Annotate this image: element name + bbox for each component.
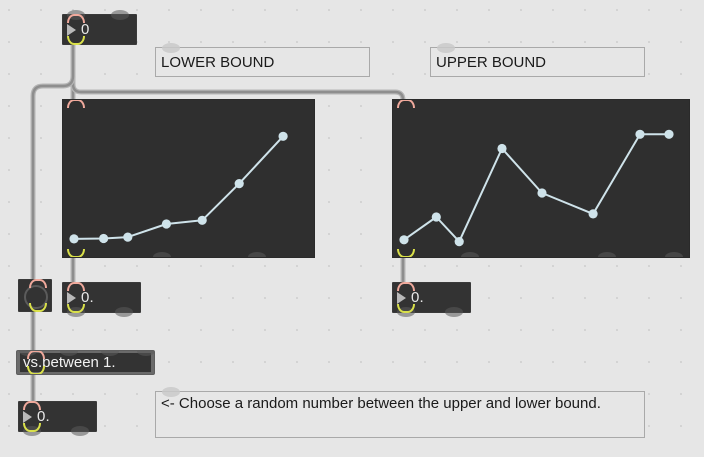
comment-inlet-shadow-3 xyxy=(162,387,180,397)
lower-bound-plot xyxy=(63,100,315,258)
numbox-blob-2 xyxy=(115,307,133,317)
function-point[interactable] xyxy=(455,237,464,246)
upper-output-value: 0. xyxy=(411,290,424,305)
function-point[interactable] xyxy=(432,212,441,221)
upper-bound-label-text: UPPER BOUND xyxy=(436,53,546,72)
comment-inlet-shadow xyxy=(162,43,180,53)
patcher-canvas[interactable]: 0 LOWER BOUND UPPER BOUND xyxy=(0,0,704,457)
lower-bound-label-text: LOWER BOUND xyxy=(161,53,274,72)
function-point[interactable] xyxy=(123,233,132,242)
function-point[interactable] xyxy=(635,130,644,139)
explanation-comment: <- Choose a random number between the up… xyxy=(155,391,645,438)
function-point[interactable] xyxy=(664,130,673,139)
bang-button[interactable] xyxy=(18,279,52,312)
result-number-box[interactable]: 0. xyxy=(18,401,97,432)
source-number-box[interactable]: 0 xyxy=(62,14,137,45)
source-number-value: 0 xyxy=(81,22,90,37)
upper-bound-function[interactable] xyxy=(392,99,690,258)
upper-output-number-box[interactable]: 0. xyxy=(392,282,471,313)
inlet-shadow xyxy=(67,10,85,20)
number-box-triangle-icon xyxy=(397,292,406,304)
function-point[interactable] xyxy=(279,132,288,141)
number-box-triangle-icon xyxy=(67,292,76,304)
function-point[interactable] xyxy=(198,216,207,225)
number-box-triangle-icon xyxy=(23,411,32,423)
vs-between-text: vs.between 1. xyxy=(20,353,151,372)
number-box-triangle-icon xyxy=(67,24,76,36)
inlet-shadow-2 xyxy=(111,10,129,20)
upper-bound-label: UPPER BOUND xyxy=(430,47,645,77)
function-point[interactable] xyxy=(99,234,108,243)
function-point[interactable] xyxy=(537,188,546,197)
function-point[interactable] xyxy=(69,234,78,243)
vs-between-object[interactable]: vs.between 1. xyxy=(16,350,155,375)
lower-bound-label: LOWER BOUND xyxy=(155,47,370,77)
numbox-blob-5 xyxy=(23,426,41,436)
explanation-comment-text: <- Choose a random number between the up… xyxy=(161,395,601,412)
bang-circle-icon xyxy=(24,285,48,309)
function-point[interactable] xyxy=(162,219,171,228)
lower-output-value: 0. xyxy=(81,290,94,305)
lower-output-number-box[interactable]: 0. xyxy=(62,282,141,313)
upper-bound-plot xyxy=(393,100,690,258)
function-point[interactable] xyxy=(399,235,408,244)
function-point[interactable] xyxy=(497,144,506,153)
numbox-blob-6 xyxy=(71,426,89,436)
result-value: 0. xyxy=(37,409,50,424)
numbox-blob xyxy=(67,307,85,317)
comment-inlet-shadow-2 xyxy=(437,43,455,53)
numbox-blob-3 xyxy=(397,307,415,317)
numbox-blob-4 xyxy=(445,307,463,317)
lower-bound-function[interactable] xyxy=(62,99,315,258)
function-point[interactable] xyxy=(235,179,244,188)
function-point[interactable] xyxy=(589,209,598,218)
